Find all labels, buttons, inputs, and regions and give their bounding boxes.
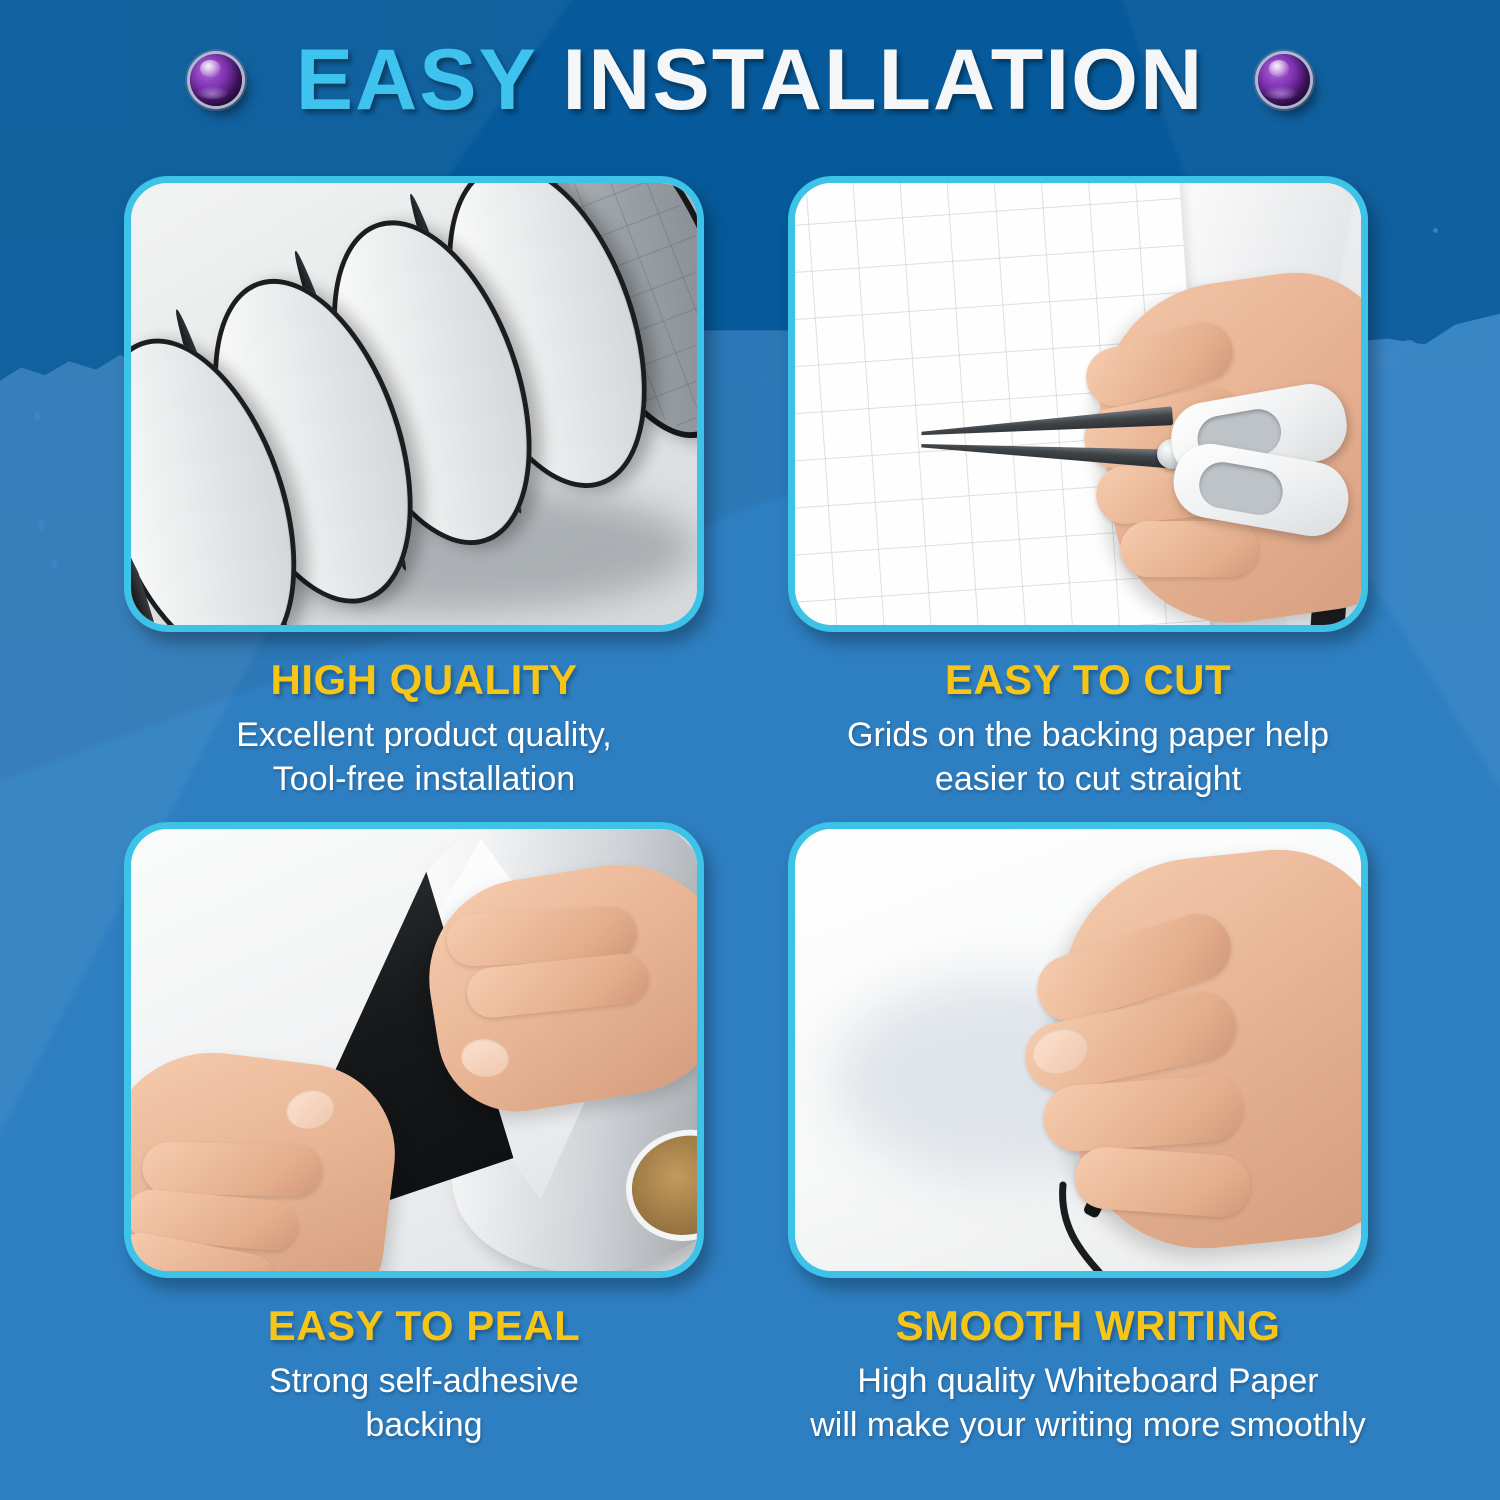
feature-body: Excellent product quality, Tool-free ins… (124, 713, 724, 801)
feature-caption-easy-to-peal: EASY TO PEAL Strong self-adhesive backin… (124, 1302, 724, 1447)
page-title-accent: EASY (296, 32, 537, 128)
feature-heading: EASY TO CUT (788, 656, 1388, 704)
feature-body-line: Strong self-adhesive (124, 1359, 724, 1403)
feature-body-line: Excellent product quality, (124, 713, 724, 757)
scissor-blade (921, 406, 1174, 443)
photo-scene-rolled-sheet (131, 183, 697, 625)
feature-body-line: Tool-free installation (124, 757, 724, 801)
feature-caption-high-quality: HIGH QUALITY Excellent product quality, … (124, 656, 724, 801)
feature-body-line: will make your writing more smoothly (788, 1403, 1388, 1447)
scissors-icon (921, 397, 1341, 547)
feature-body-line: High quality Whiteboard Paper (788, 1359, 1388, 1403)
rolled-whiteboard-sheet (124, 176, 704, 632)
feature-heading: EASY TO PEAL (124, 1302, 724, 1350)
feature-card-high-quality: HIGH QUALITY Excellent product quality, … (124, 176, 724, 801)
product-infographic-poster: EASY INSTALLATION (0, 0, 1500, 1500)
feature-body-line: backing (124, 1403, 724, 1447)
feature-caption-easy-to-cut: EASY TO CUT Grids on the backing paper h… (788, 656, 1388, 801)
feature-caption-smooth-writing: SMOOTH WRITING High quality Whiteboard P… (788, 1302, 1388, 1447)
scissor-blade (921, 436, 1174, 468)
feature-card-smooth-writing: JW-528 No.1 og JIAWEI (788, 822, 1388, 1447)
photo-scene-marker-writing: JW-528 No.1 og JIAWEI (795, 829, 1361, 1271)
feature-grid: HIGH QUALITY Excellent product quality, … (0, 176, 1500, 1476)
purple-magnet-icon-left (190, 54, 242, 106)
feature-card-easy-to-cut: EASY TO CUT Grids on the backing paper h… (788, 176, 1388, 801)
feature-body: Strong self-adhesive backing (124, 1359, 724, 1447)
feature-body-line: Grids on the backing paper help (788, 713, 1388, 757)
feature-photo-smooth-writing: JW-528 No.1 og JIAWEI (788, 822, 1368, 1278)
feature-body: Grids on the backing paper help easier t… (788, 713, 1388, 801)
feature-body-line: easier to cut straight (788, 757, 1388, 801)
photo-scene-peeling-backing (131, 829, 697, 1271)
feature-card-easy-to-peal: EASY TO PEAL Strong self-adhesive backin… (124, 822, 724, 1447)
hand-holding-marker (1048, 839, 1368, 1261)
roll-core-end (611, 1113, 704, 1257)
photo-scene-scissors-cutting (795, 183, 1361, 625)
page-title-main: INSTALLATION (562, 32, 1204, 128)
page-title: EASY INSTALLATION (296, 37, 1204, 123)
feature-photo-high-quality (124, 176, 704, 632)
feature-photo-easy-to-peal (124, 822, 704, 1278)
poster-header: EASY INSTALLATION (0, 22, 1500, 137)
purple-magnet-icon-right (1258, 54, 1310, 106)
feature-photo-easy-to-cut (788, 176, 1368, 632)
feature-heading: HIGH QUALITY (124, 656, 724, 704)
feature-body: High quality Whiteboard Paper will make … (788, 1359, 1388, 1447)
feature-heading: SMOOTH WRITING (788, 1302, 1388, 1350)
